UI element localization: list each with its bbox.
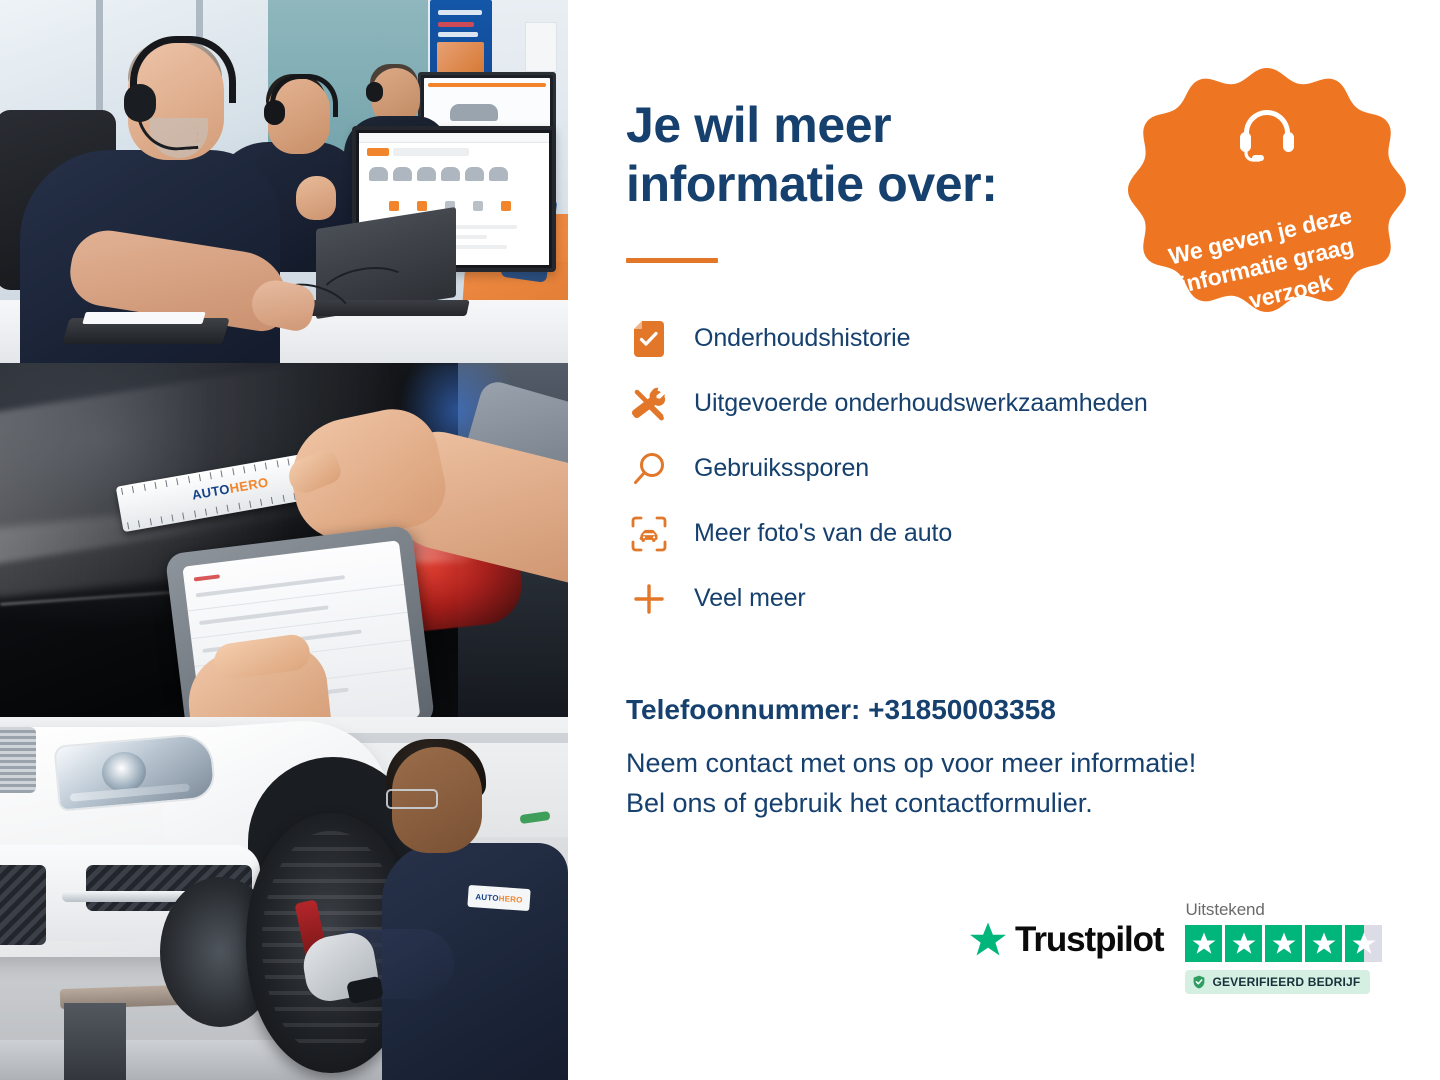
feature-item-onderhoudswerkzaamheden: Uitgevoerde onderhoudswerkzaamheden — [626, 371, 1366, 436]
feature-label: Meer foto's van de auto — [694, 519, 952, 548]
trustpilot-star-icon — [968, 920, 1008, 960]
star-filled — [1265, 925, 1302, 962]
verified-business-badge: GEVERIFIEERD BEDRIJF — [1185, 970, 1370, 994]
trustpilot-logo: Trustpilot — [968, 920, 1163, 960]
shield-check-icon — [1192, 975, 1206, 989]
trustpilot-widget: Trustpilot Uitstekend — [968, 900, 1382, 994]
feature-item-meer-fotos: Meer foto's van de auto — [626, 501, 1366, 566]
content-column: Je wil meer informatie over: We geven je… — [568, 0, 1440, 1080]
verified-business-label: GEVERIFIEERD BEDRIJF — [1212, 975, 1360, 989]
magnifier-icon — [626, 446, 672, 492]
star-half — [1345, 925, 1382, 962]
contact-instructions: Neem contact met ons op voor meer inform… — [626, 744, 1386, 824]
star-filled — [1225, 925, 1262, 962]
phone-number: Telefoonnummer: +31850003358 — [626, 694, 1056, 726]
feature-label: Veel meer — [694, 584, 806, 613]
call-center-agents-photo — [0, 0, 568, 363]
plus-icon — [626, 576, 672, 622]
trustpilot-wordmark: Trustpilot — [1015, 920, 1163, 960]
contact-line-1: Neem contact met ons op voor meer inform… — [626, 744, 1386, 784]
car-scan-icon — [626, 511, 672, 557]
checklist-icon — [626, 316, 672, 362]
wheel-inspection-photo: AUTOHERO — [0, 717, 568, 1080]
star-filled — [1305, 925, 1342, 962]
headline-line-2: informatie over: — [626, 156, 997, 212]
page-title: Je wil meer informatie over: — [626, 96, 1146, 214]
trustpilot-rating-label: Uitstekend — [1185, 900, 1264, 920]
feature-label: Uitgevoerde onderhoudswerkzaamheden — [694, 389, 1148, 418]
headset-icon — [1238, 108, 1296, 162]
autohero-info-banner: AUTOHERO — [0, 0, 1440, 1080]
trustpilot-rating: Uitstekend — [1185, 900, 1382, 994]
feature-item-gebruikssporen: Gebruikssporen — [626, 436, 1366, 501]
feature-list: Onderhoudshistorie — [626, 306, 1366, 631]
headline-line-1: Je wil meer — [626, 97, 891, 153]
feature-item-veel-meer: Veel meer — [626, 566, 1366, 631]
feature-item-onderhoudshistorie: Onderhoudshistorie — [626, 306, 1366, 371]
autohero-polo-logo: AUTOHERO — [467, 885, 530, 911]
feature-label: Gebruikssporen — [694, 454, 869, 483]
title-divider — [626, 258, 718, 263]
photo-column: AUTOHERO — [0, 0, 568, 1080]
car-inspection-ruler-photo: AUTOHERO — [0, 363, 568, 717]
star-filled — [1185, 925, 1222, 962]
contact-line-2: Bel ons of gebruik het contactformulier. — [626, 784, 1386, 824]
tools-icon — [626, 381, 672, 427]
feature-label: Onderhoudshistorie — [694, 324, 910, 353]
trustpilot-stars — [1185, 925, 1382, 962]
